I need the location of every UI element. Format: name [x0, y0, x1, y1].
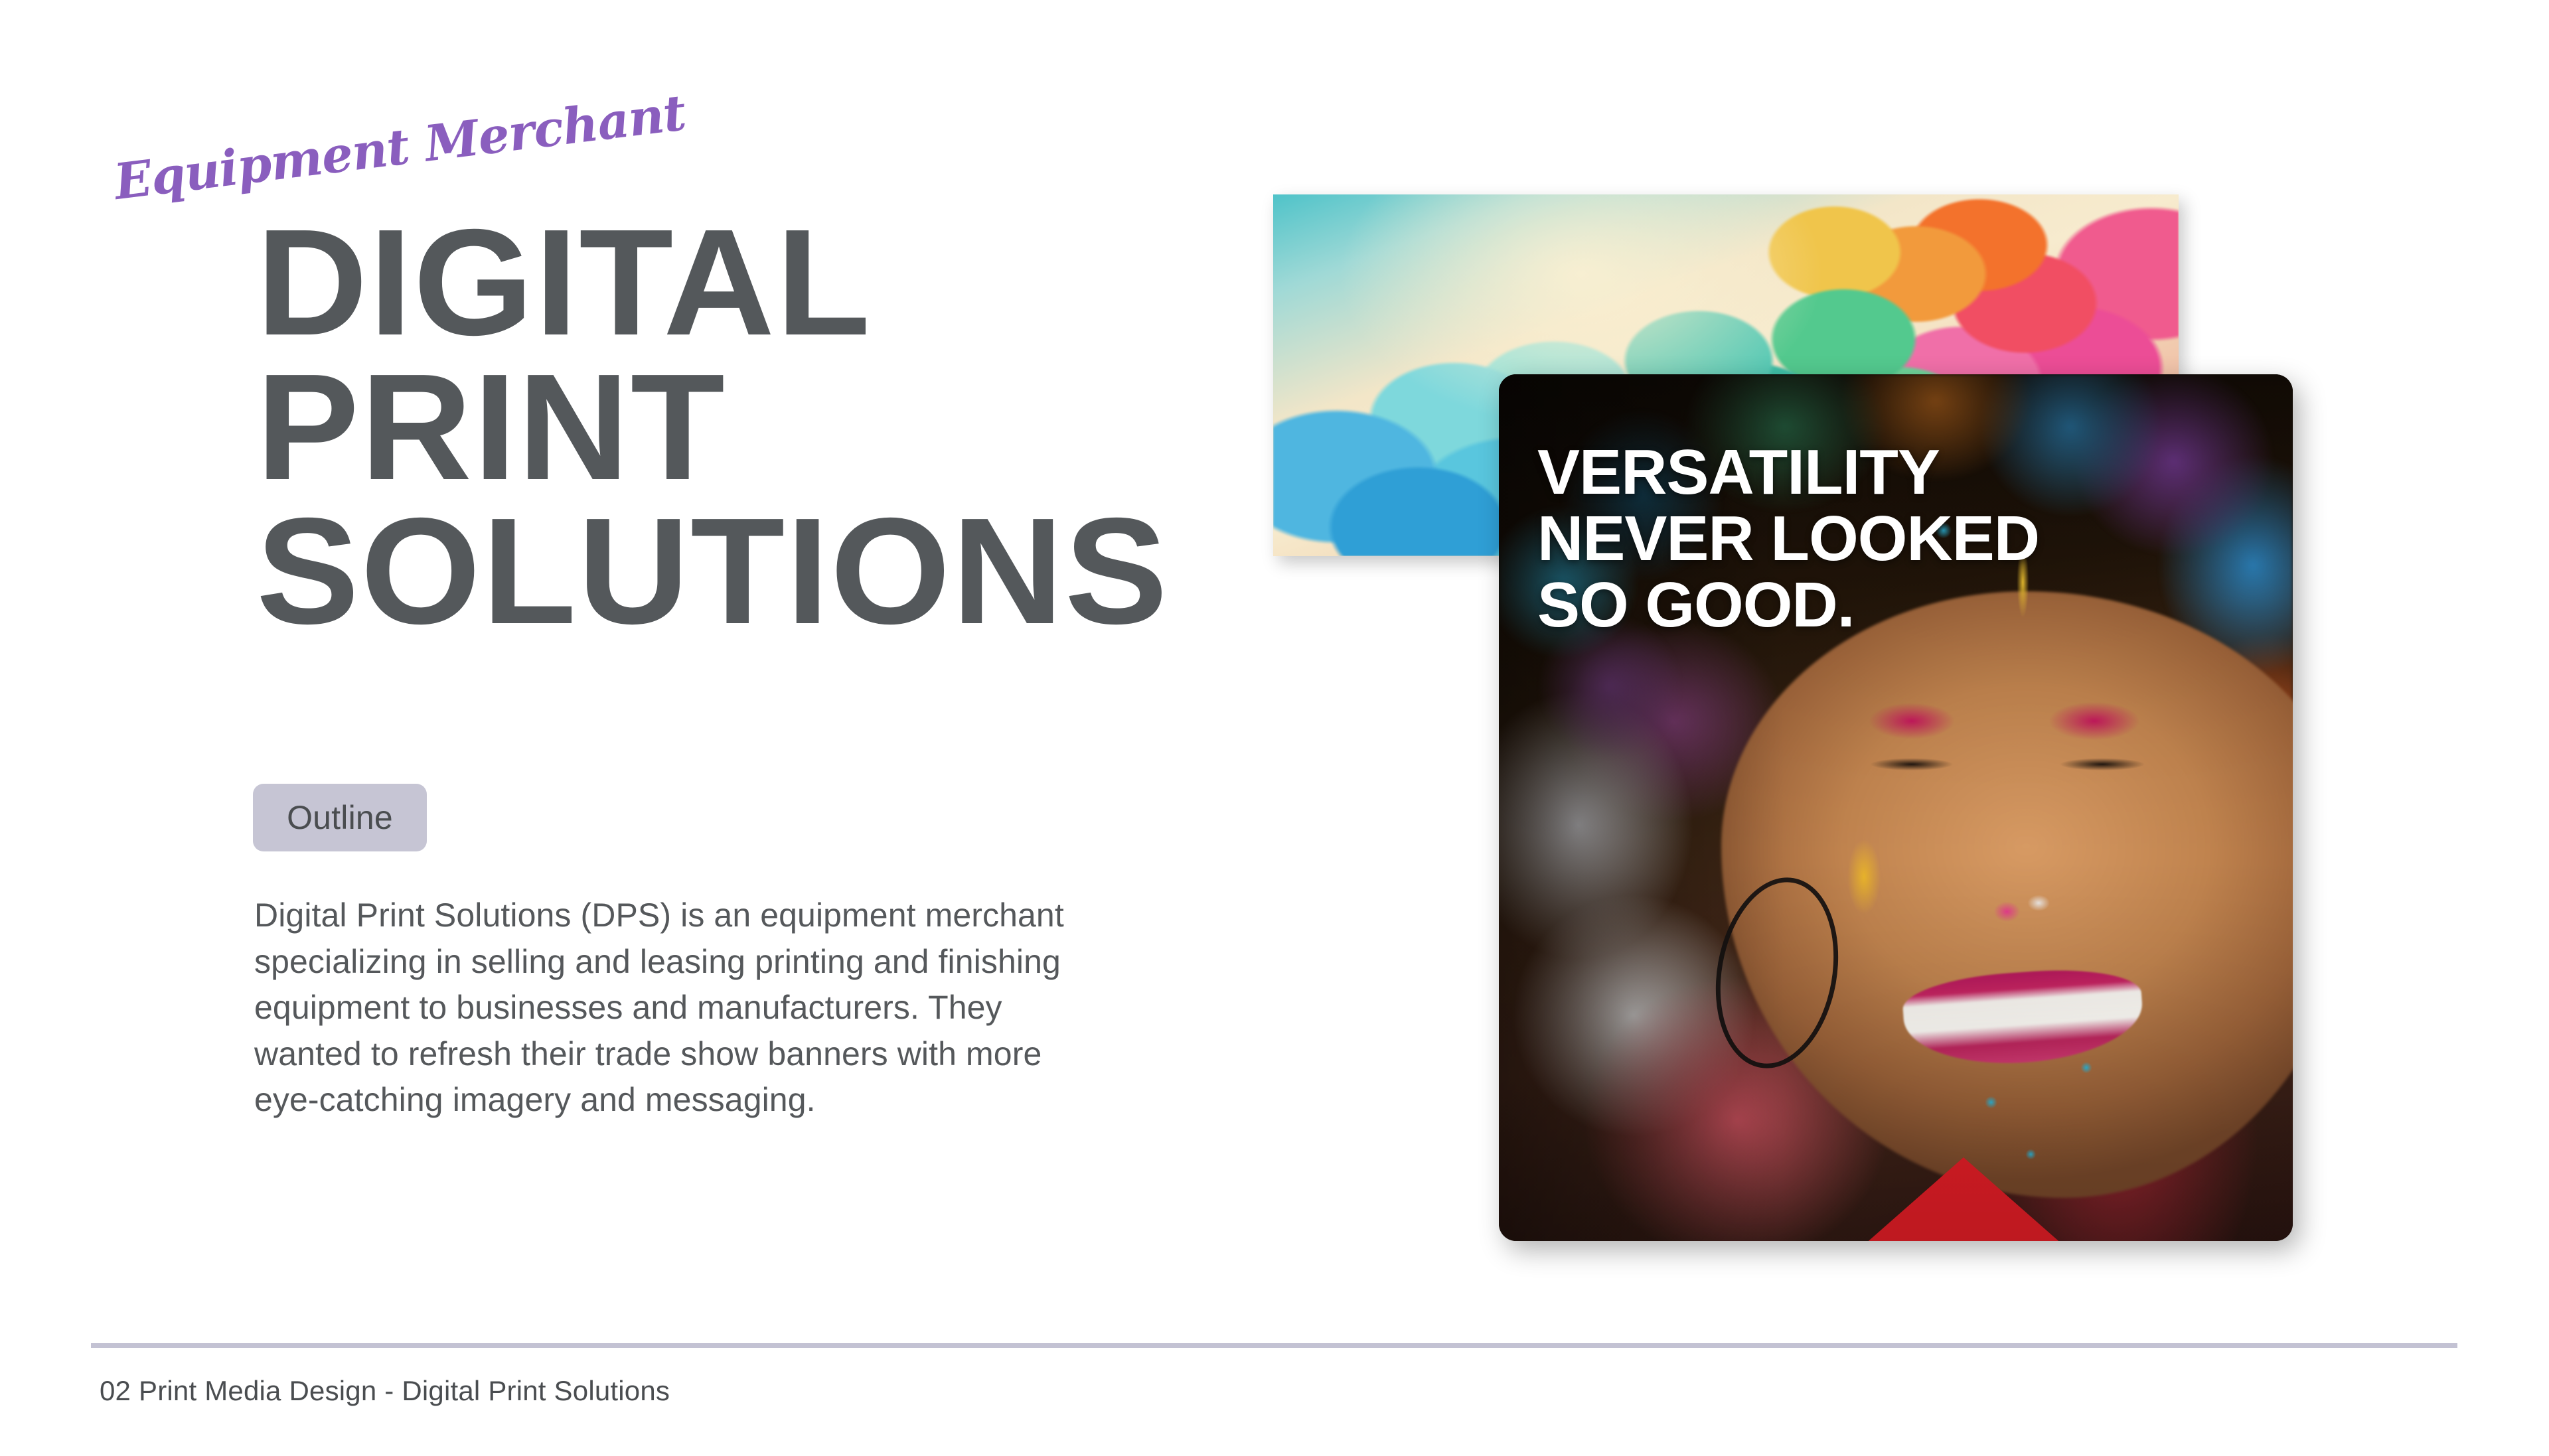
headline-line-1: DIGITAL — [256, 211, 1285, 356]
headline-line-3: SOLUTIONS — [256, 500, 1285, 644]
outline-body-text: Digital Print Solutions (DPS) is an equi… — [254, 893, 1064, 1124]
eyebrow-script-label: Equipment Merchant — [112, 84, 689, 211]
left-content-column: Equipment Merchant DIGITAL PRINT SOLUTIO… — [0, 0, 1301, 1456]
headline-line-2: PRINT — [256, 356, 1285, 500]
banner-overlay-headline: VERSATILITY NEVER LOOKED SO GOOD. — [1537, 439, 2039, 638]
versatility-photo-card: VERSATILITY NEVER LOOKED SO GOOD. — [1499, 374, 2293, 1241]
page-title: DIGITAL PRINT SOLUTIONS — [256, 211, 1265, 644]
outline-badge: Outline — [253, 784, 427, 851]
slide-canvas: Equipment Merchant DIGITAL PRINT SOLUTIO… — [0, 0, 2549, 1456]
footer-label: 02 Print Media Design - Digital Print So… — [100, 1375, 670, 1407]
footer-divider — [91, 1343, 2457, 1348]
outline-badge-label: Outline — [287, 798, 393, 837]
